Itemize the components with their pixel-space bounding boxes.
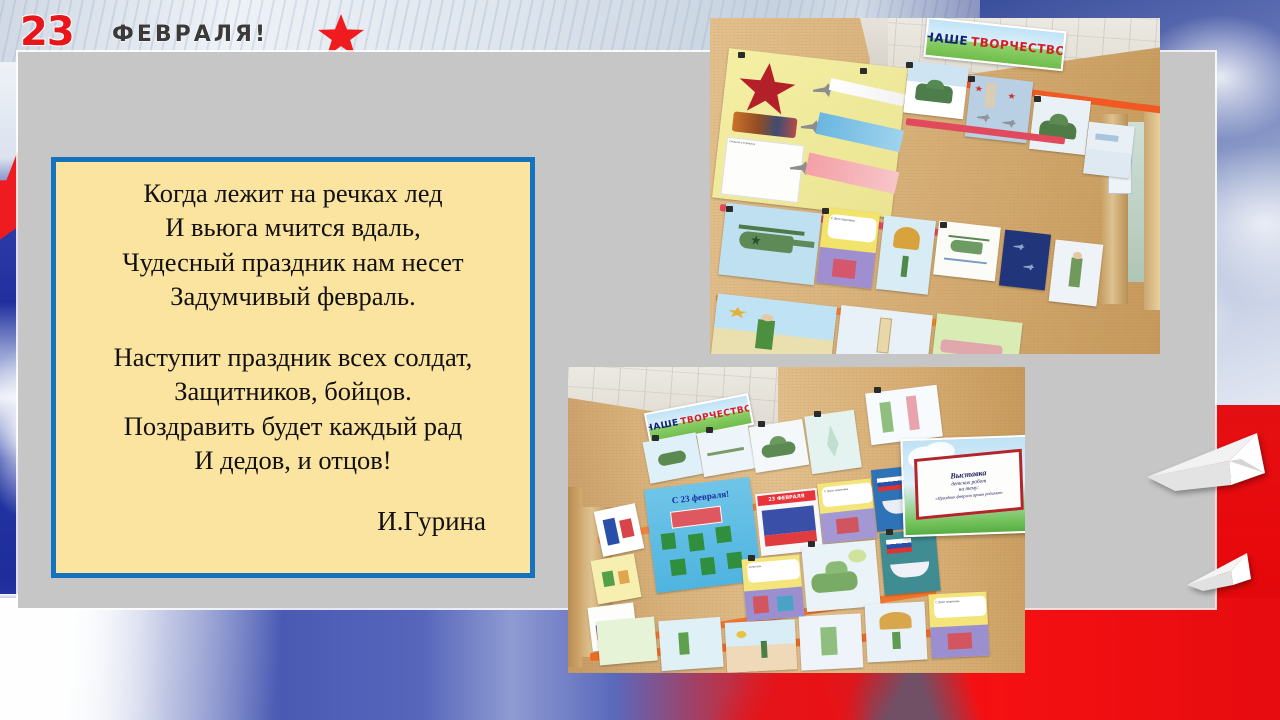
photo-top-clip-8 [940,222,947,228]
photo-bottom-sign-paper: Выставка детских работ на тему: «Праздни… [914,449,1023,520]
photo-bottom-drawing-row-6: С Днем защитника [928,592,989,659]
photo-bottom-drawing-row-1 [596,617,658,666]
poem-card: Когда лежит на речках лед И вьюга мчится… [51,157,535,578]
photo-bottom-clip-8 [886,529,893,535]
photo-bottom-clip-1 [652,435,659,441]
photo-top-card-note-text: С Днем защитника [827,214,878,243]
poem-author: И.Гурина [74,506,512,563]
photo-top-wall-pillar [1144,110,1160,310]
poem-stanza-2: Наступит праздник всех солдат, Защитнико… [74,340,512,478]
photo-bottom-drawing-row-4 [799,613,864,670]
photo-bottom-drawing-row-2 [658,617,723,671]
photo-top-drawing-card-yellow: С Днем защитника [816,207,880,289]
photo-top-banner-text-2: ТВОРЧЕСТВО [970,35,1066,59]
photo-bottom-drawing-row-5 [865,601,928,662]
photo-top-poster-ribbon [732,111,798,138]
photo-bottom-drawing-row-3 [725,619,798,673]
poem-stanza-gap [74,314,512,340]
photo-top-drawing-night-sky [999,230,1051,291]
photo-bottom-row-6-text: С Днем защитника [933,595,987,618]
photo-top-drawing-winter [1083,122,1135,179]
slide-header: 23 ФЕВРАЛЯ! [0,0,430,56]
photo-bottom-drawing-tank-2 [801,540,880,612]
photo-top-drawing-parachute [876,215,936,294]
photo-bottom-banner-text-1: НАШЕ [645,418,680,434]
photo-top-jet-trail-1 [829,78,906,106]
photo-top-jet-trail-2 [815,112,904,152]
photo-top-clip-3 [906,62,913,68]
paper-plane-icon-large [1145,415,1270,515]
photo-bottom-poster-small-text: 23 ФЕВРАЛЯ [758,491,816,507]
photo-top-clip-5 [1034,96,1041,102]
photo-top-jet-trail-3 [805,153,900,194]
photo-bottom-drawing-ship-2 [879,529,940,596]
photo-top-clip-1 [738,52,745,58]
photo-bottom-clip-7 [808,541,815,547]
photo-bottom-drawing-left-2 [591,554,642,605]
photo-top-exhibition-wall: НАШЕ ТВОРЧЕСТВО Открытка к 23 февраля [710,18,1160,354]
photo-bottom-clip-6 [748,555,755,561]
photo-bottom-clip-2 [706,427,713,433]
photo-top-poster-text-note: Открытка к 23 февраля [720,137,804,203]
photo-bottom-door-frame [568,487,582,667]
slide-root: 23 ФЕВРАЛЯ! Когда лежит на речках лед И … [0,0,1280,720]
photo-bottom-note-card-1: С Днем защитника [817,478,877,543]
header-month-label: ФЕВРАЛЯ! [112,22,268,47]
paper-plane-icon-small [1185,545,1255,603]
photo-bottom-clip-4 [814,411,821,417]
photo-bottom-exhibition-wall: НАШЕ ТВОРЧЕСТВО С 23 февраля! [568,367,1025,673]
photo-top-drawing-helicopter [718,203,822,285]
header-number: 23 [20,9,74,55]
photo-top-clip-4 [968,76,975,82]
photo-bottom-note-card-1-text: С Днем защитника [822,482,873,508]
photo-bottom-clip-5 [874,387,881,393]
photo-top-drawing-soldier [1049,239,1104,306]
photo-top-clip-2 [860,68,867,74]
photo-bottom-note-card-2-text: отечества [746,558,800,583]
photo-bottom-note-card-2: отечества [741,555,804,622]
photo-top-poster-star-icon [736,60,798,118]
photo-top-drawing-tank-2 [1029,95,1091,155]
photo-bottom-exhibition-sign: Выставка детских работ на тему: «Праздни… [900,435,1025,537]
photo-top-poster-main: Открытка к 23 февраля [712,48,908,217]
photo-bottom-drawing-plane [804,410,862,474]
photo-bottom-drawing-rocket [865,385,943,445]
photo-top-clip-7 [822,208,829,214]
photo-top-drawing-tank-1 [903,61,969,119]
photo-bottom-clip-3 [758,421,765,427]
photo-top-drawing-helicopter-2 [933,221,1001,282]
photo-top-clip-6 [726,206,733,212]
photo-top-banner-text-1: НАШЕ [923,30,968,49]
photo-bottom-banner-text-2: ТВОРЧЕСТВО [680,404,753,428]
poem-stanza-1: Когда лежит на речках лед И вьюга мчится… [74,176,512,314]
photo-bottom-drawing-tank [749,419,810,473]
